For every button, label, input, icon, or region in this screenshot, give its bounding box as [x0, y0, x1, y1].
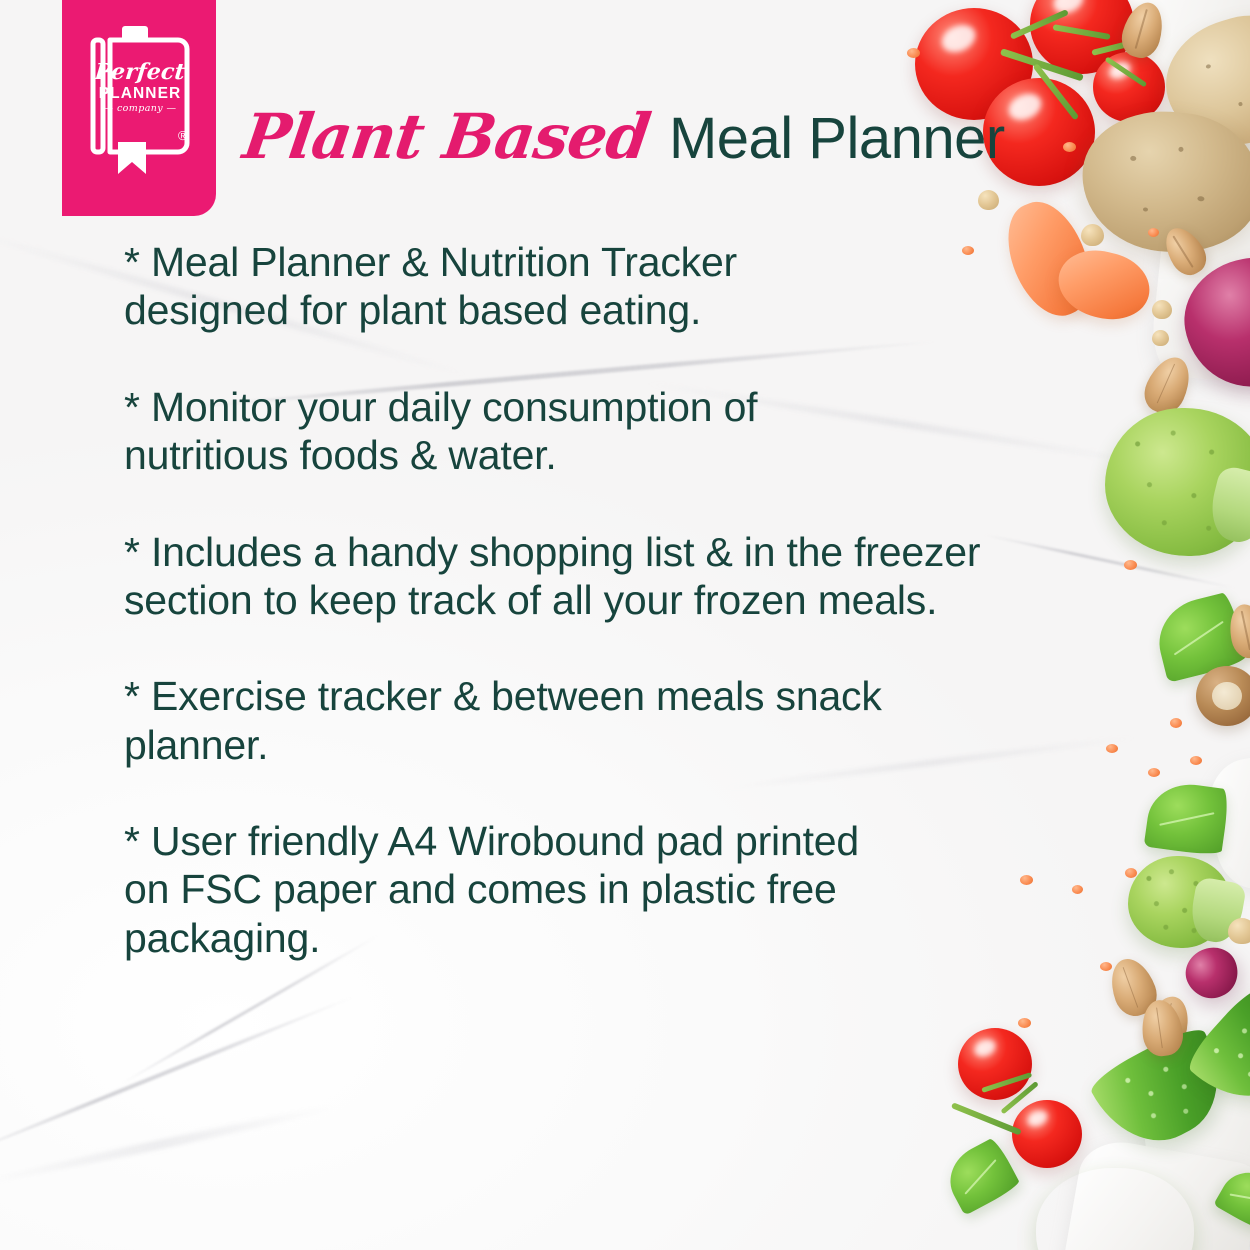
list-item: * Includes a handy shopping list & in th…	[124, 528, 1184, 625]
list-item: * Exercise tracker & between meals snack…	[124, 672, 1184, 769]
meal-planner-product-card: Perfect PLANNER — company — ® Plant Base…	[0, 0, 1250, 1250]
page-title: Plant Based Meal Planner	[244, 106, 1005, 168]
list-item: * User friendly A4 Wirobound pad printed…	[124, 817, 1184, 962]
title-script-part: Plant Based	[240, 106, 654, 168]
feature-list: * Meal Planner & Nutrition Tracker desig…	[124, 238, 1184, 962]
registered-trademark-icon: ®	[178, 128, 188, 143]
brand-logo-badge[interactable]: Perfect PLANNER — company — ®	[62, 0, 216, 216]
book-icon	[88, 24, 192, 174]
title-plain-part: Meal Planner	[669, 110, 1005, 168]
list-item: * Meal Planner & Nutrition Tracker desig…	[124, 238, 1184, 335]
list-item: * Monitor your daily consumption of nutr…	[124, 383, 1184, 480]
